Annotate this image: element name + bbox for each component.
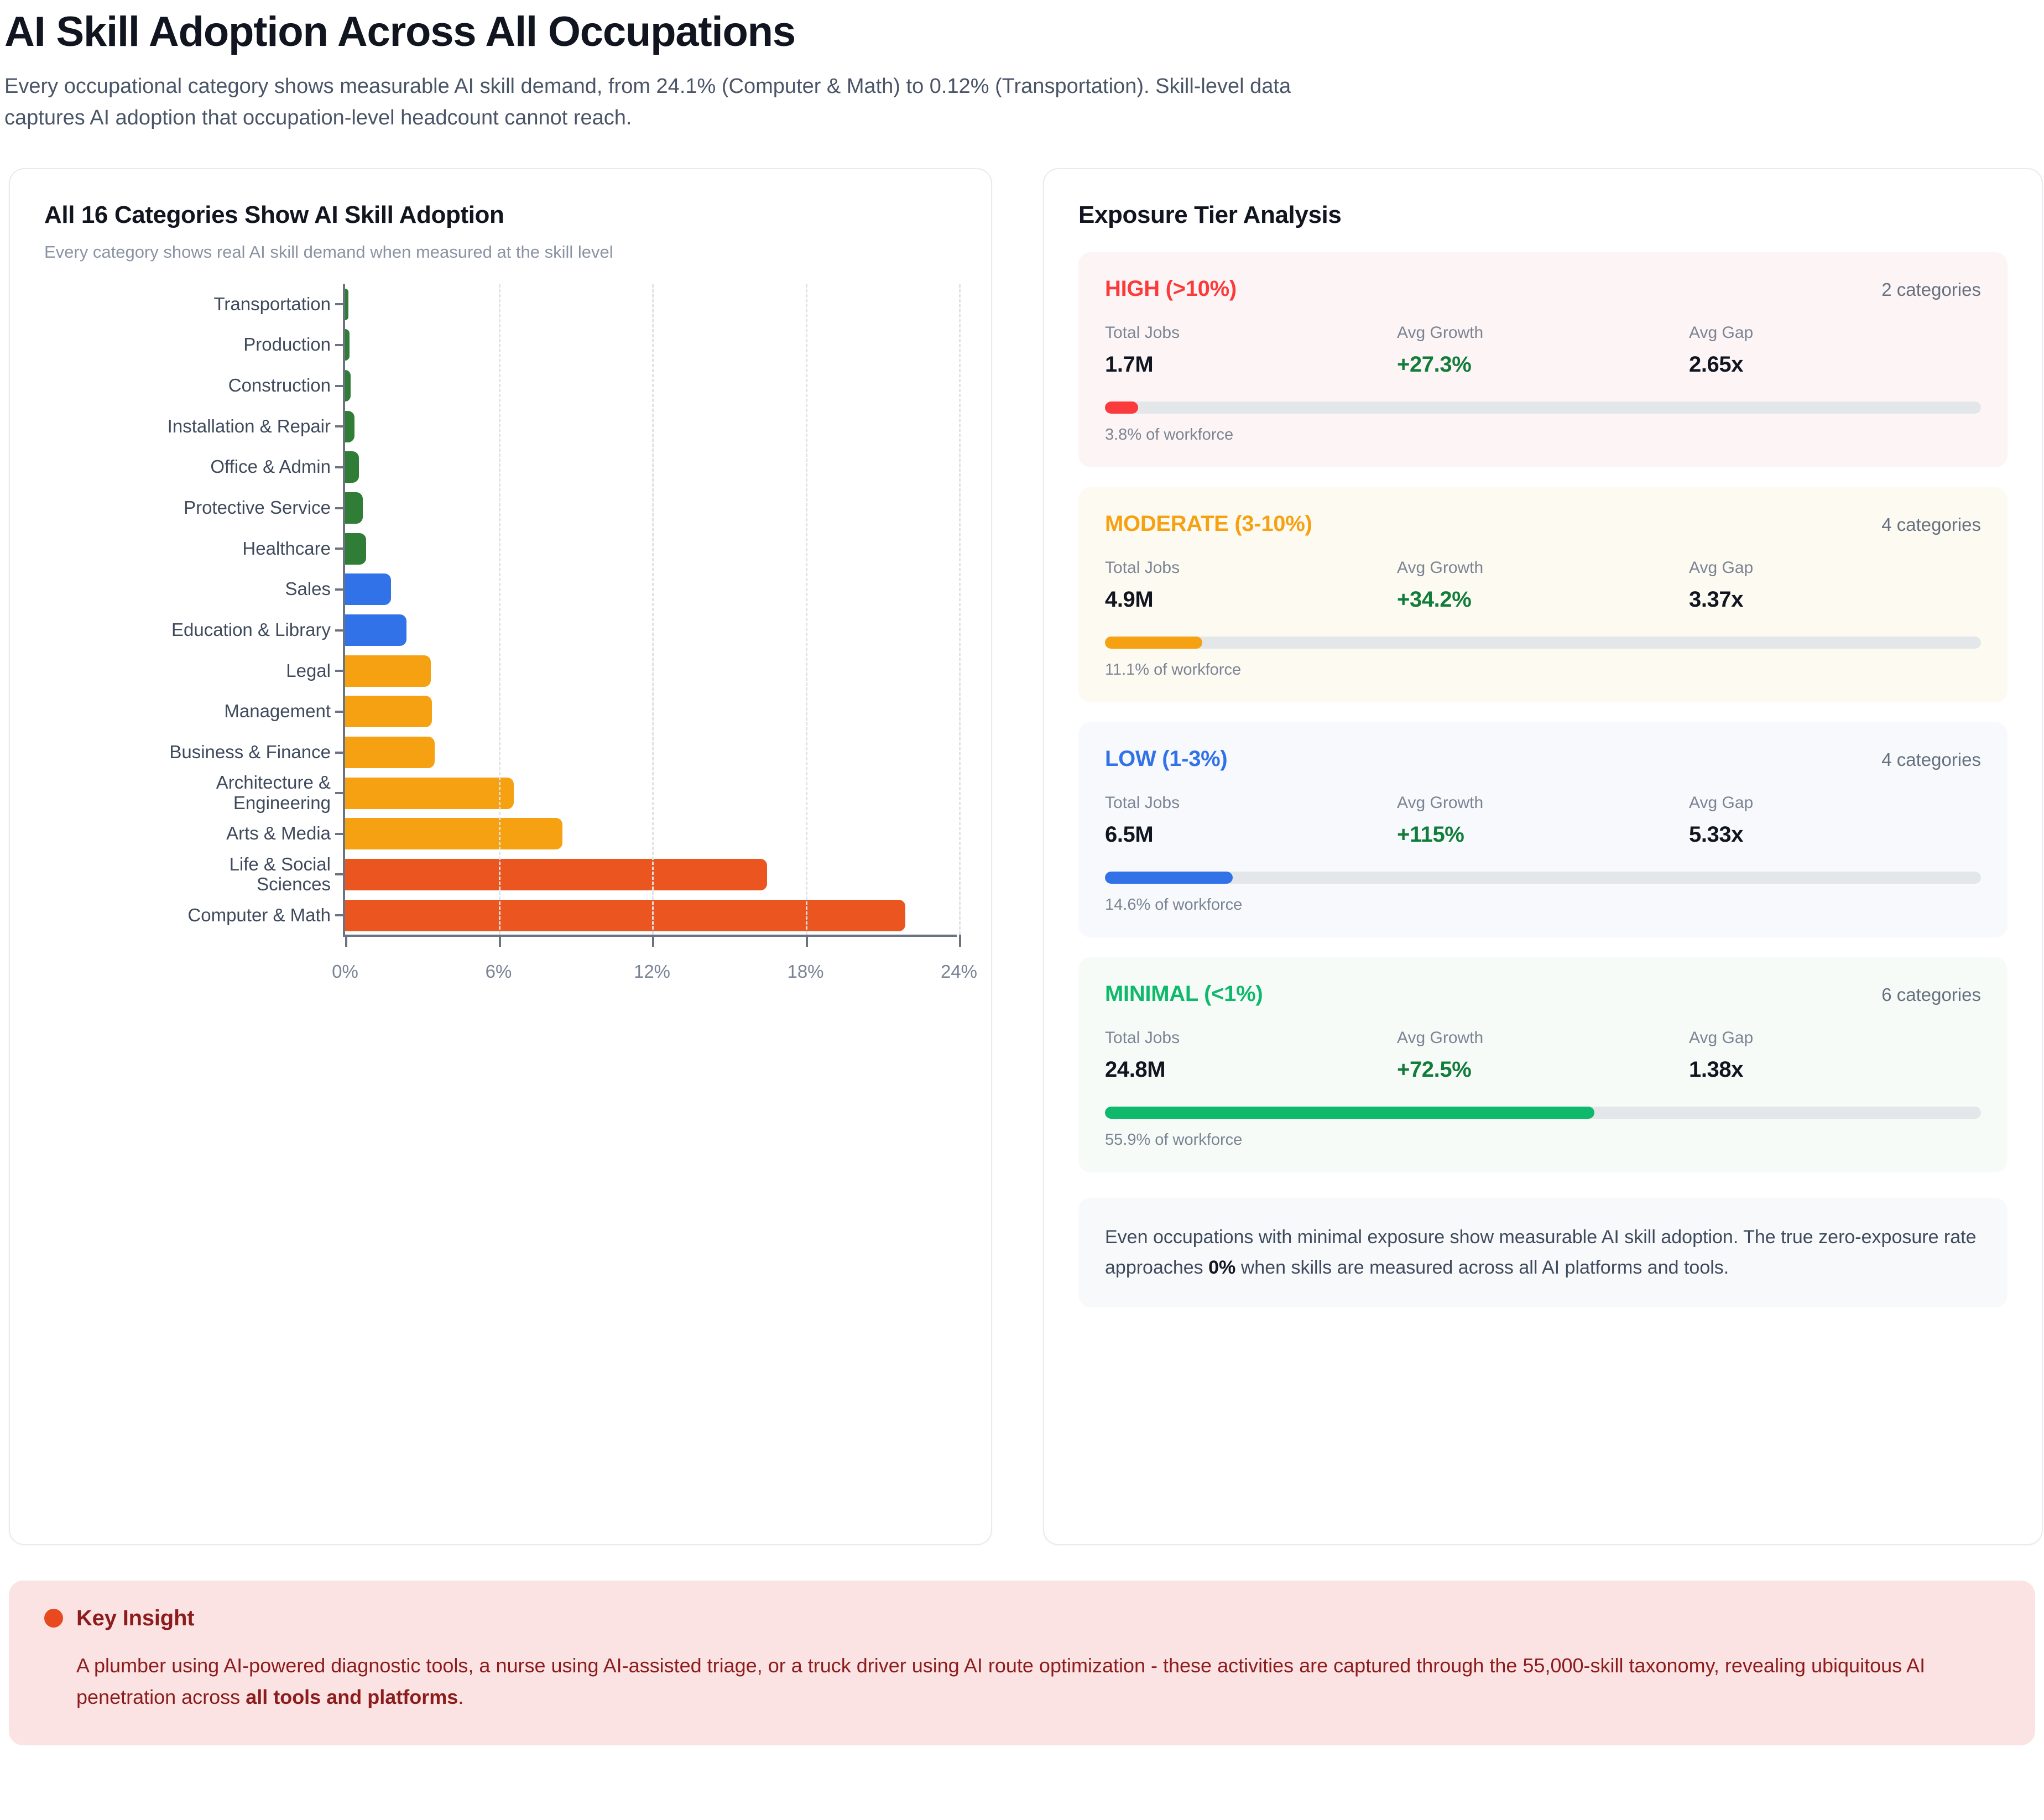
chart-x-tick bbox=[345, 935, 347, 947]
chart-bar-row: Transportation bbox=[345, 289, 957, 320]
tier-stat: Avg Gap2.65x bbox=[1689, 324, 1981, 377]
key-insight-body: A plumber using AI-powered diagnostic to… bbox=[76, 1650, 2000, 1713]
chart-bar bbox=[345, 492, 363, 524]
tier-stat-value: 4.9M bbox=[1105, 587, 1397, 612]
tier-stat: Total Jobs24.8M bbox=[1105, 1029, 1397, 1082]
tier-stat: Avg Growth+34.2% bbox=[1397, 559, 1689, 612]
chart-bar-row: Installation & Repair bbox=[345, 411, 957, 442]
tier-stat-value: 2.65x bbox=[1689, 352, 1981, 377]
tier-progress-fill bbox=[1105, 401, 1138, 414]
chart-bar bbox=[345, 451, 359, 483]
chart-category-label: Office & Admin bbox=[43, 457, 331, 477]
tier-stat-value: 1.7M bbox=[1105, 352, 1397, 377]
chart-category-label: Business & Finance bbox=[43, 742, 331, 763]
page-title: AI Skill Adoption Across All Occupations bbox=[4, 10, 2044, 54]
tier-progress-track bbox=[1105, 637, 1981, 649]
tier-category-count: 4 categories bbox=[1881, 749, 1981, 770]
chart-y-tick bbox=[335, 752, 345, 754]
tier-progress-fill bbox=[1105, 1107, 1594, 1119]
chart-bar-row: Management bbox=[345, 696, 957, 727]
chart-card: All 16 Categories Show AI Skill Adoption… bbox=[9, 168, 992, 1545]
page-subtitle: Every occupational category shows measur… bbox=[4, 71, 1293, 134]
chart-x-tick bbox=[806, 935, 808, 947]
tier-stat-label: Total Jobs bbox=[1105, 559, 1397, 577]
chart-category-label: Architecture & Engineering bbox=[43, 773, 331, 813]
chart-bar bbox=[345, 655, 431, 687]
tier-category-count: 4 categories bbox=[1881, 514, 1981, 535]
chart-category-label: Transportation bbox=[43, 294, 331, 315]
tier-stat: Total Jobs6.5M bbox=[1105, 794, 1397, 847]
tier-stat: Total Jobs4.9M bbox=[1105, 559, 1397, 612]
tier-stat-label: Avg Gap bbox=[1689, 794, 1981, 812]
chart-x-tick-label: 6% bbox=[486, 961, 512, 982]
chart-y-tick bbox=[335, 425, 345, 427]
chart-x-tick-label: 0% bbox=[332, 961, 358, 982]
tier-progress-track bbox=[1105, 872, 1981, 884]
chart-y-tick bbox=[335, 670, 345, 672]
chart-bar-row: Architecture & Engineering bbox=[345, 778, 957, 809]
tier-progress-fill bbox=[1105, 872, 1233, 884]
tier-item[interactable]: MINIMAL (<1%)6 categoriesTotal Jobs24.8M… bbox=[1078, 957, 2007, 1172]
chart-y-tick bbox=[335, 629, 345, 632]
tier-workforce-share: 3.8% of workforce bbox=[1105, 426, 1981, 444]
tier-stat-label: Avg Gap bbox=[1689, 559, 1981, 577]
chart-card-title: All 16 Categories Show AI Skill Adoption bbox=[44, 201, 957, 229]
chart-category-label: Arts & Media bbox=[43, 823, 331, 844]
chart-category-label: Education & Library bbox=[43, 620, 331, 640]
tier-progress-track bbox=[1105, 1107, 1981, 1119]
chart-y-tick bbox=[335, 507, 345, 509]
chart-bar bbox=[345, 573, 391, 605]
chart-plot-area: TransportationProductionConstructionInst… bbox=[343, 284, 957, 937]
chart-category-label: Construction bbox=[43, 376, 331, 396]
tier-header: MODERATE (3-10%)4 categories bbox=[1105, 512, 1981, 536]
chart-bar-row: Computer & Math bbox=[345, 900, 957, 931]
tier-note: Even occupations with minimal exposure s… bbox=[1078, 1198, 2007, 1307]
tier-stat: Avg Gap1.38x bbox=[1689, 1029, 1981, 1082]
chart-bar-row: Education & Library bbox=[345, 614, 957, 646]
tier-stat-label: Avg Gap bbox=[1689, 324, 1981, 342]
chart-category-label: Life & Social Sciences bbox=[43, 854, 331, 895]
chart-bar-row: Healthcare bbox=[345, 533, 957, 565]
chart-y-tick bbox=[335, 385, 345, 387]
tier-note-bold: 0% bbox=[1208, 1257, 1235, 1278]
tier-name: LOW (1-3%) bbox=[1105, 747, 1227, 771]
chart-y-tick bbox=[335, 547, 345, 550]
chart-bar bbox=[345, 370, 351, 401]
tier-stat-label: Avg Growth bbox=[1397, 559, 1689, 577]
tier-list: HIGH (>10%)2 categoriesTotal Jobs1.7MAvg… bbox=[1078, 252, 2007, 1172]
key-insight-title: Key Insight bbox=[76, 1606, 194, 1631]
chart-x-tick bbox=[652, 935, 654, 947]
chart-x-tick bbox=[959, 935, 961, 947]
tier-card-title: Exposure Tier Analysis bbox=[1078, 201, 2007, 229]
tier-stat-value: 3.37x bbox=[1689, 587, 1981, 612]
chart-bar bbox=[345, 737, 435, 768]
tier-stat-value: 5.33x bbox=[1689, 822, 1981, 847]
tier-stat-label: Total Jobs bbox=[1105, 324, 1397, 342]
chart-bar-row: Life & Social Sciences bbox=[345, 859, 957, 890]
chart-category-label: Legal bbox=[43, 661, 331, 681]
chart-y-tick bbox=[335, 303, 345, 305]
chart-x-tick-label: 12% bbox=[634, 961, 670, 982]
chart-x-tick-label: 18% bbox=[787, 961, 823, 982]
chart-bar bbox=[345, 614, 406, 646]
chart-bar bbox=[345, 900, 905, 931]
tier-progress-fill bbox=[1105, 637, 1202, 649]
chart-category-label: Installation & Repair bbox=[43, 416, 331, 437]
chart-bar-row: Sales bbox=[345, 573, 957, 605]
chart-bar-row: Production bbox=[345, 329, 957, 361]
chart-bar bbox=[345, 778, 514, 809]
dashboard-page: AI Skill Adoption Across All Occupations… bbox=[0, 0, 2044, 1820]
tier-stat: Avg Gap5.33x bbox=[1689, 794, 1981, 847]
chart-bar bbox=[345, 411, 354, 442]
tier-header: HIGH (>10%)2 categories bbox=[1105, 277, 1981, 301]
tier-stat-value: 1.38x bbox=[1689, 1057, 1981, 1082]
key-insight-body-suffix: . bbox=[458, 1686, 463, 1708]
chart-gridline bbox=[499, 284, 500, 935]
tier-name: HIGH (>10%) bbox=[1105, 277, 1237, 301]
chart-bar-rows: TransportationProductionConstructionInst… bbox=[345, 284, 957, 935]
key-insight-header: Key Insight bbox=[44, 1606, 2000, 1631]
tier-stat: Total Jobs1.7M bbox=[1105, 324, 1397, 377]
tier-stat-label: Avg Growth bbox=[1397, 1029, 1689, 1047]
tier-workforce-share: 11.1% of workforce bbox=[1105, 661, 1981, 679]
tier-stat-value: +27.3% bbox=[1397, 352, 1689, 377]
tier-item[interactable]: LOW (1-3%)4 categoriesTotal Jobs6.5MAvg … bbox=[1078, 722, 2007, 937]
chart-bar bbox=[345, 289, 348, 320]
tier-item[interactable]: MODERATE (3-10%)4 categoriesTotal Jobs4.… bbox=[1078, 487, 2007, 702]
chart-bar bbox=[345, 859, 767, 890]
chart-bar bbox=[345, 329, 350, 361]
chart-category-label: Healthcare bbox=[43, 539, 331, 559]
page-header: AI Skill Adoption Across All Occupations… bbox=[0, 0, 2044, 134]
tier-stat-label: Total Jobs bbox=[1105, 1029, 1397, 1047]
tier-name: MINIMAL (<1%) bbox=[1105, 982, 1263, 1007]
key-insight-body-bold: all tools and platforms bbox=[246, 1686, 458, 1708]
key-insight-banner: Key Insight A plumber using AI-powered d… bbox=[9, 1581, 2035, 1745]
chart-bar-row: Protective Service bbox=[345, 492, 957, 524]
tier-stat: Avg Growth+115% bbox=[1397, 794, 1689, 847]
tier-stats: Total Jobs6.5MAvg Growth+115%Avg Gap5.33… bbox=[1105, 794, 1981, 847]
tier-workforce-share: 14.6% of workforce bbox=[1105, 896, 1981, 914]
tier-stat: Avg Gap3.37x bbox=[1689, 559, 1981, 612]
bullet-dot-icon bbox=[44, 1609, 63, 1628]
chart-bar-row: Office & Admin bbox=[345, 451, 957, 483]
chart-bar-row: Arts & Media bbox=[345, 818, 957, 849]
chart-category-label: Sales bbox=[43, 579, 331, 599]
chart-y-tick bbox=[335, 914, 345, 916]
tier-progress-track bbox=[1105, 401, 1981, 414]
tier-header: MINIMAL (<1%)6 categories bbox=[1105, 982, 1981, 1007]
tier-stats: Total Jobs24.8MAvg Growth+72.5%Avg Gap1.… bbox=[1105, 1029, 1981, 1082]
tier-stat-value: +115% bbox=[1397, 822, 1689, 847]
main-columns: All 16 Categories Show AI Skill Adoption… bbox=[0, 168, 2044, 1545]
tier-card: Exposure Tier Analysis HIGH (>10%)2 cate… bbox=[1043, 168, 2043, 1545]
chart-card-subtitle: Every category shows real AI skill deman… bbox=[44, 242, 957, 262]
tier-header: LOW (1-3%)4 categories bbox=[1105, 747, 1981, 771]
chart-y-tick bbox=[335, 792, 345, 794]
chart-gridline bbox=[652, 284, 654, 935]
tier-stat: Avg Growth+27.3% bbox=[1397, 324, 1689, 377]
chart-bar-row: Business & Finance bbox=[345, 737, 957, 768]
tier-stat-value: 24.8M bbox=[1105, 1057, 1397, 1082]
chart-y-tick bbox=[335, 588, 345, 591]
chart-y-tick bbox=[335, 833, 345, 835]
chart-bar-row: Legal bbox=[345, 655, 957, 687]
tier-workforce-share: 55.9% of workforce bbox=[1105, 1131, 1981, 1149]
tier-item[interactable]: HIGH (>10%)2 categoriesTotal Jobs1.7MAvg… bbox=[1078, 252, 2007, 467]
tier-stat-value: +34.2% bbox=[1397, 587, 1689, 612]
tier-stat-label: Avg Growth bbox=[1397, 794, 1689, 812]
chart-y-tick bbox=[335, 873, 345, 875]
bar-chart: TransportationProductionConstructionInst… bbox=[44, 284, 957, 1058]
chart-bar-row: Construction bbox=[345, 370, 957, 401]
tier-stat-value: +72.5% bbox=[1397, 1057, 1689, 1082]
chart-gridline bbox=[959, 284, 961, 935]
tier-category-count: 6 categories bbox=[1881, 984, 1981, 1005]
chart-category-label: Protective Service bbox=[43, 498, 331, 518]
tier-stats: Total Jobs1.7MAvg Growth+27.3%Avg Gap2.6… bbox=[1105, 324, 1981, 377]
chart-y-tick bbox=[335, 344, 345, 346]
tier-name: MODERATE (3-10%) bbox=[1105, 512, 1312, 536]
chart-y-tick bbox=[335, 711, 345, 713]
chart-x-tick-label: 24% bbox=[941, 961, 977, 982]
tier-stats: Total Jobs4.9MAvg Growth+34.2%Avg Gap3.3… bbox=[1105, 559, 1981, 612]
tier-stat: Avg Growth+72.5% bbox=[1397, 1029, 1689, 1082]
chart-x-tick bbox=[499, 935, 501, 947]
tier-stat-label: Avg Gap bbox=[1689, 1029, 1981, 1047]
tier-category-count: 2 categories bbox=[1881, 279, 1981, 300]
chart-y-tick bbox=[335, 466, 345, 468]
tier-stat-value: 6.5M bbox=[1105, 822, 1397, 847]
chart-category-label: Computer & Math bbox=[43, 905, 331, 926]
chart-category-label: Production bbox=[43, 335, 331, 355]
chart-bar bbox=[345, 696, 432, 727]
tier-note-suffix: when skills are measured across all AI p… bbox=[1235, 1257, 1729, 1278]
tier-stat-label: Total Jobs bbox=[1105, 794, 1397, 812]
chart-gridline bbox=[806, 284, 807, 935]
chart-bar bbox=[345, 533, 366, 565]
chart-category-label: Management bbox=[43, 701, 331, 722]
tier-stat-label: Avg Growth bbox=[1397, 324, 1689, 342]
chart-bar bbox=[345, 818, 562, 849]
